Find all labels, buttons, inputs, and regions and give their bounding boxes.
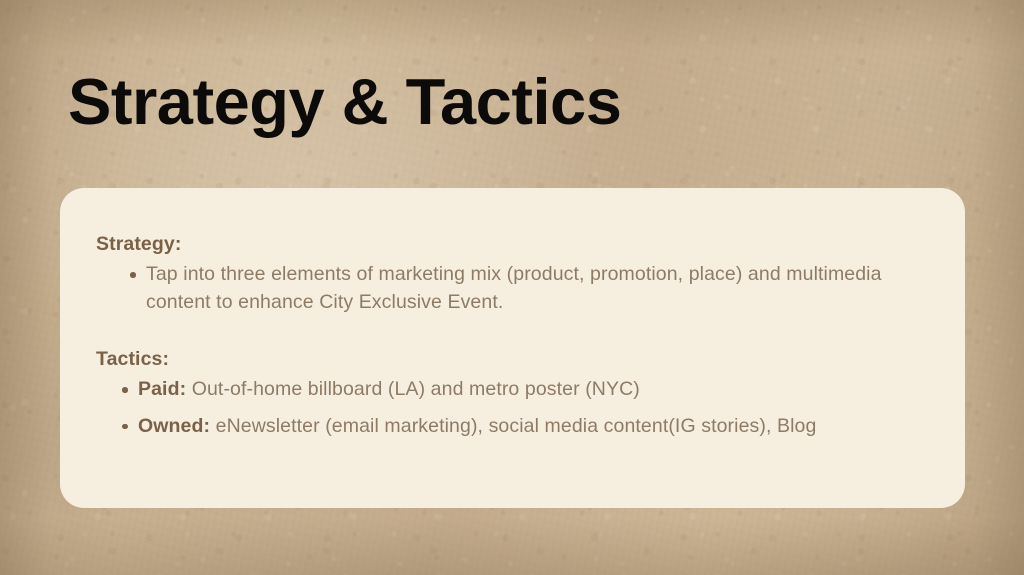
slide-root: Strategy & Tactics Strategy: Tap into th… (0, 0, 1024, 575)
content-card: Strategy: Tap into three elements of mar… (60, 188, 965, 508)
section-heading-strategy: Strategy: (96, 232, 925, 257)
list-item: Paid: Out-of-home billboard (LA) and met… (114, 376, 925, 404)
bullet-list-tactics: Paid: Out-of-home billboard (LA) and met… (114, 376, 925, 440)
bullet-text: Tap into three elements of marketing mix… (146, 263, 882, 313)
bullet-lead-label: Paid: (138, 378, 186, 400)
bullet-text: Out-of-home billboard (LA) and metro pos… (192, 378, 640, 400)
bullet-list-strategy: Tap into three elements of marketing mix… (122, 261, 925, 316)
section-heading-tactics: Tactics: (96, 347, 925, 372)
slide-title: Strategy & Tactics (68, 68, 621, 136)
list-item: Tap into three elements of marketing mix… (122, 261, 925, 316)
section-tactics: Tactics: Paid: Out-of-home billboard (LA… (96, 347, 925, 441)
bullet-lead-label: Owned: (138, 415, 210, 437)
list-item: Owned: eNewsletter (email marketing), so… (114, 413, 925, 441)
section-strategy: Strategy: Tap into three elements of mar… (96, 232, 925, 317)
bullet-text: eNewsletter (email marketing), social me… (216, 415, 817, 437)
